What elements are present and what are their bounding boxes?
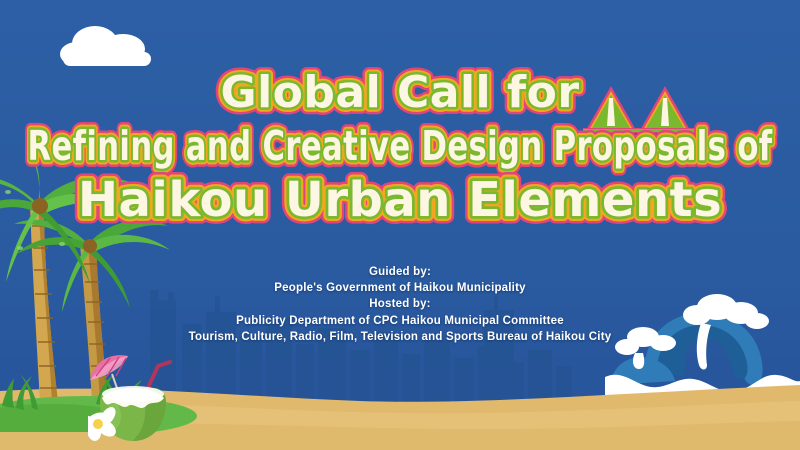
credit-line-guided-by: Guided by: [0, 264, 800, 280]
credit-line-hosted-by: Hosted by: [0, 296, 800, 312]
poster-canvas: Global Call for Global Call for Global C… [0, 0, 800, 450]
coconut-drink-icon [88, 344, 178, 444]
credits-block: Guided by: People's Government of Haikou… [0, 264, 800, 345]
cloud-icon [55, 22, 163, 74]
credit-line-guide-org: People's Government of Haikou Municipali… [0, 280, 800, 296]
credit-line-host-org-1: Publicity Department of CPC Haikou Munic… [0, 313, 800, 329]
credit-line-host-org-2: Tourism, Culture, Radio, Film, Televisio… [0, 329, 800, 345]
pavilion-peaks-icon [583, 82, 695, 134]
